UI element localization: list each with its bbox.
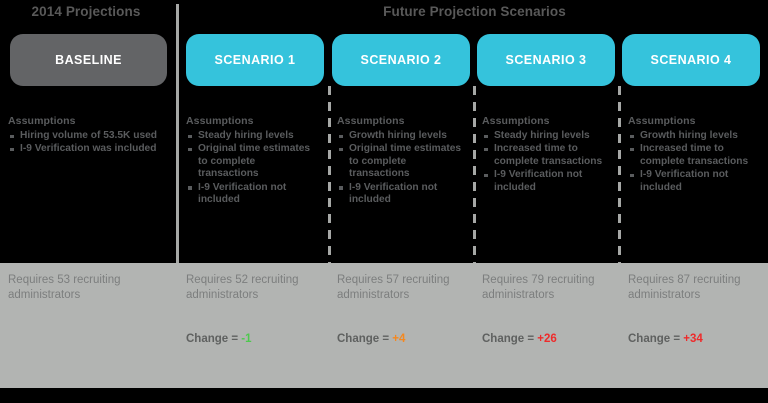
assumptions-column-scenario-3: Assumptions Steady hiring levels Increas… (482, 115, 614, 195)
assumptions-list-scenario-3: Steady hiring levels Increased time to c… (482, 130, 614, 194)
assumptions-list-scenario-1: Steady hiring levels Original time estim… (186, 130, 318, 206)
bullet-icon (484, 135, 488, 139)
result-requires-scenario-3: Requires 79 recruiting administrators (482, 273, 622, 302)
bullet-icon (630, 135, 634, 139)
assumption-item: Hiring volume of 53.5K used (8, 130, 168, 142)
assumption-text: Original time estimates to complete tran… (349, 143, 461, 179)
assumption-text: Increased time to complete transactions (640, 143, 748, 166)
assumptions-title-baseline: Assumptions (8, 115, 168, 127)
bullet-icon (188, 148, 192, 152)
assumptions-title-scenario-1: Assumptions (186, 115, 318, 127)
result-requires-scenario-1: Requires 52 recruiting administrators (186, 273, 326, 302)
result-change-scenario-3: Change = +26 (482, 333, 557, 345)
result-column-scenario-1: Requires 52 recruiting administrators Ch… (186, 273, 326, 302)
divider-scenario-3-4 (618, 86, 621, 263)
assumption-item: I-9 Verification not included (337, 182, 467, 207)
assumption-text: Hiring volume of 53.5K used (20, 130, 157, 141)
result-requires-scenario-4: Requires 87 recruiting administrators (628, 273, 768, 302)
change-label: Change = (482, 333, 537, 345)
pill-scenario-2[interactable]: SCENARIO 2 (332, 34, 470, 86)
pill-scenario-4-label: SCENARIO 4 (651, 53, 732, 67)
bullet-icon (339, 135, 343, 139)
change-label: Change = (337, 333, 392, 345)
assumption-text: Steady hiring levels (494, 130, 590, 141)
assumption-item: I-9 Verification not included (186, 182, 318, 207)
result-change-scenario-1: Change = -1 (186, 333, 252, 345)
result-requires-scenario-2: Requires 57 recruiting administrators (337, 273, 477, 302)
assumptions-list-scenario-4: Growth hiring levels Increased time to c… (628, 130, 760, 194)
assumption-item: Original time estimates to complete tran… (186, 143, 318, 180)
change-label: Change = (186, 333, 241, 345)
group-title-baseline: 2014 Projections (0, 4, 172, 19)
pill-scenario-1[interactable]: SCENARIO 1 (186, 34, 324, 86)
projection-scenarios-slide: 2014 Projections Future Projection Scena… (0, 0, 768, 403)
assumptions-column-baseline: Assumptions Hiring volume of 53.5K used … (8, 115, 168, 157)
assumption-text: I-9 Verification not included (494, 169, 582, 192)
assumptions-title-scenario-3: Assumptions (482, 115, 614, 127)
assumptions-title-scenario-4: Assumptions (628, 115, 760, 127)
assumption-item: Increased time to complete transactions (628, 143, 760, 168)
result-change-scenario-4: Change = +34 (628, 333, 703, 345)
assumptions-column-scenario-2: Assumptions Growth hiring levels Origina… (337, 115, 467, 207)
bullet-icon (339, 186, 343, 190)
pill-baseline-label: BASELINE (55, 53, 122, 67)
change-label: Change = (628, 333, 683, 345)
assumption-item: Steady hiring levels (482, 130, 614, 142)
assumptions-column-scenario-1: Assumptions Steady hiring levels Origina… (186, 115, 318, 207)
assumption-text: Increased time to complete transactions (494, 143, 602, 166)
pill-baseline[interactable]: BASELINE (10, 34, 167, 86)
assumption-text: I-9 Verification not included (198, 182, 286, 205)
pill-scenario-3[interactable]: SCENARIO 3 (477, 34, 615, 86)
assumptions-list-baseline: Hiring volume of 53.5K used I-9 Verifica… (8, 130, 168, 156)
assumptions-title-scenario-2: Assumptions (337, 115, 467, 127)
result-column-scenario-4: Requires 87 recruiting administrators Ch… (628, 273, 768, 302)
pill-scenario-2-label: SCENARIO 2 (361, 53, 442, 67)
result-requires-baseline: Requires 53 recruiting administrators (8, 273, 168, 302)
assumption-item: I-9 Verification was included (8, 143, 168, 155)
assumption-text: I-9 Verification not included (349, 182, 437, 205)
result-column-scenario-2: Requires 57 recruiting administrators Ch… (337, 273, 477, 302)
bullet-icon (484, 148, 488, 152)
assumption-text: Original time estimates to complete tran… (198, 143, 310, 179)
divider-baseline-future (176, 4, 179, 263)
result-column-baseline: Requires 53 recruiting administrators (8, 273, 168, 302)
bullet-icon (10, 135, 14, 139)
assumption-item: Steady hiring levels (186, 130, 318, 142)
assumption-item: Original time estimates to complete tran… (337, 143, 467, 180)
assumptions-column-scenario-4: Assumptions Growth hiring levels Increas… (628, 115, 760, 195)
bullet-icon (484, 174, 488, 178)
bullet-icon (188, 186, 192, 190)
assumption-text: I-9 Verification not included (640, 169, 728, 192)
assumption-item: Growth hiring levels (337, 130, 467, 142)
pill-scenario-3-label: SCENARIO 3 (506, 53, 587, 67)
assumption-text: Steady hiring levels (198, 130, 294, 141)
bullet-icon (339, 148, 343, 152)
bullet-icon (630, 148, 634, 152)
pill-scenario-1-label: SCENARIO 1 (215, 53, 296, 67)
assumption-item: I-9 Verification not included (628, 169, 760, 194)
change-value: +4 (392, 333, 405, 345)
bullet-icon (630, 174, 634, 178)
bullet-icon (10, 148, 14, 152)
change-value: +34 (683, 333, 703, 345)
change-value: +26 (537, 333, 557, 345)
assumption-text: Growth hiring levels (349, 130, 447, 141)
group-title-future-scenarios: Future Projection Scenarios (181, 4, 768, 19)
assumption-text: I-9 Verification was included (20, 143, 156, 154)
assumption-item: I-9 Verification not included (482, 169, 614, 194)
result-change-scenario-2: Change = +4 (337, 333, 405, 345)
assumptions-list-scenario-2: Growth hiring levels Original time estim… (337, 130, 467, 206)
assumption-item: Growth hiring levels (628, 130, 760, 142)
result-column-scenario-3: Requires 79 recruiting administrators Ch… (482, 273, 622, 302)
assumption-text: Growth hiring levels (640, 130, 738, 141)
bullet-icon (188, 135, 192, 139)
assumption-item: Increased time to complete transactions (482, 143, 614, 168)
change-value: -1 (241, 333, 251, 345)
divider-scenario-1-2 (328, 86, 331, 263)
divider-scenario-2-3 (473, 86, 476, 263)
pill-scenario-4[interactable]: SCENARIO 4 (622, 34, 760, 86)
